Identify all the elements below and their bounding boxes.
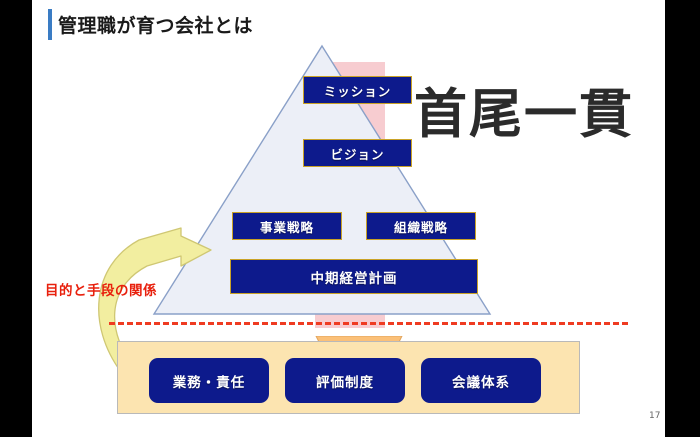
slide-canvas: 管理職が育つ会社とは ミッション ビジョン 事業戦略 組織戦略 中期経営計画 首… [32,0,665,437]
title-accent-bar [48,9,52,40]
box-organization-strategy-label: 組織戦略 [394,217,448,236]
foundation-item-meetings-label: 会議体系 [452,371,510,391]
box-business-strategy-label: 事業戦略 [260,217,314,236]
box-vision[interactable]: ビジョン [303,139,412,167]
page-number: 17 [649,411,660,421]
slide-root: 管理職が育つ会社とは ミッション ビジョン 事業戦略 組織戦略 中期経営計画 首… [0,0,700,437]
box-mid-term-plan[interactable]: 中期経営計画 [230,259,478,294]
box-vision-label: ビジョン [330,144,384,163]
foundation-item-duties[interactable]: 業務・責任 [149,358,269,403]
foundation-item-meetings[interactable]: 会議体系 [421,358,541,403]
foundation-item-duties-label: 業務・責任 [173,371,246,391]
box-mission-label: ミッション [324,81,392,100]
box-organization-strategy[interactable]: 組織戦略 [366,212,476,240]
box-mission[interactable]: ミッション [303,76,412,104]
letterbox-bar-left [0,0,32,437]
box-mid-term-plan-label: 中期経営計画 [311,267,398,287]
foundation-item-evaluation[interactable]: 評価制度 [285,358,405,403]
box-business-strategy[interactable]: 事業戦略 [232,212,342,240]
page-title: 管理職が育つ会社とは [58,11,253,38]
dashed-divider [109,322,628,325]
relation-annotation-label: 目的と手段の関係 [45,279,157,299]
headline-text: 首尾一貫 [414,88,634,141]
foundation-item-evaluation-label: 評価制度 [316,371,374,391]
letterbox-bar-right [665,0,700,437]
